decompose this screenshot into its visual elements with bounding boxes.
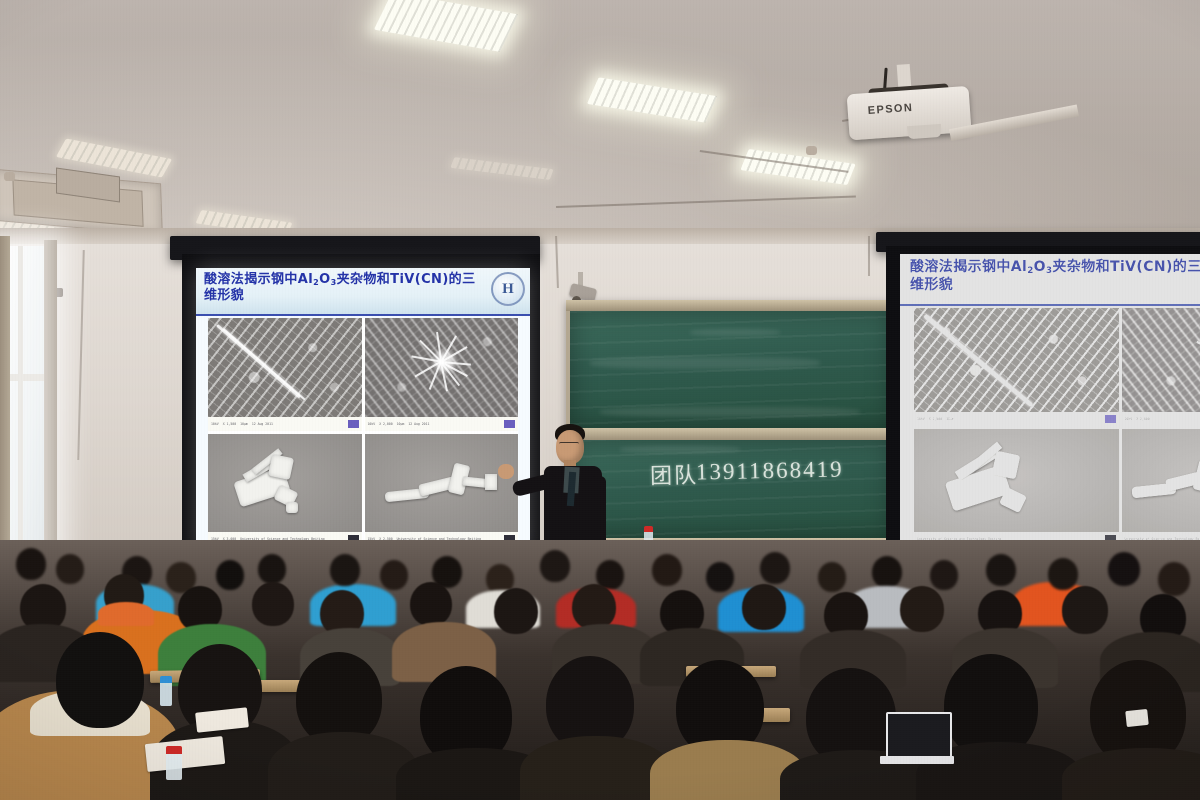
sem-image-star-r <box>1122 308 1200 412</box>
audience-head <box>1158 562 1190 596</box>
sem-panel-top-left-right-screen: 10kV X 1,500 10μm <box>914 308 1119 426</box>
sem-panel-top-right: 10kV X 2,000 10μm 12 Aug 2011 <box>365 318 519 431</box>
slide-title-bar-right: 酸溶法揭示钢中Al2O3夹杂物和TiV(CN)的三 维形貌 <box>900 254 1200 306</box>
slide-title: 酸溶法揭示钢中Al2O3夹杂物和TiV(CN)的三 维形貌 <box>204 272 486 304</box>
sprinkler-head <box>4 172 15 181</box>
audience-head <box>16 548 46 580</box>
presenter-right-arm <box>590 476 606 548</box>
sem-image-star <box>365 318 519 417</box>
sem-bar-v: 10kV <box>1125 417 1133 421</box>
slide-title-right: 酸溶法揭示钢中Al2O3夹杂物和TiV(CN)的三 维形貌 <box>910 259 1200 294</box>
audience-head <box>930 560 958 590</box>
phone-or-card <box>1125 709 1149 727</box>
right-projection-screen: 酸溶法揭示钢中Al2O3夹杂物和TiV(CN)的三 维形貌 10kV X 1,5… <box>900 254 1200 556</box>
slide-title-part2: 夹杂物和TiV(CN)的三 <box>337 272 476 287</box>
audience-head <box>410 582 452 626</box>
sem-panel-bottom-left: 15kV X 3,000 University of Science and T… <box>208 434 362 547</box>
audience <box>0 540 1200 800</box>
audience-head-foreground <box>56 632 144 728</box>
slide-title-line2: 维形貌 <box>204 288 486 304</box>
blackboard-panel-upper <box>570 311 892 428</box>
projector-lens <box>907 124 942 139</box>
audience-head <box>742 584 786 630</box>
blackboard-phone-number: 13911868419 <box>696 456 844 485</box>
sem-image-tivcn <box>365 434 519 533</box>
university-seal-logo: H <box>491 272 525 306</box>
sem-bar-scale: 10μm <box>397 422 405 426</box>
laptop-base <box>880 756 954 764</box>
audience-head <box>760 552 790 584</box>
sem-info-bar-1: 10kV X 1,500 10μm 12 Aug 2011 <box>208 417 362 431</box>
sem-panel-bottom-left-right-screen: University of Science and Technology Bei… <box>914 429 1119 547</box>
audience-head <box>330 554 360 586</box>
water-bottle-audience-2 <box>160 676 172 706</box>
slide-title-part2: 夹杂物和TiV(CN)的三 <box>1052 259 1200 275</box>
slide-title-bar: 酸溶法揭示钢中Al2O3夹杂物和TiV(CN)的三 维形貌 H <box>196 268 530 316</box>
sprinkler-head-2 <box>806 146 817 155</box>
audience-scarf-orange <box>98 602 154 626</box>
sem-bar-scale: 10μm <box>946 417 954 421</box>
audience-head <box>1108 552 1140 586</box>
sem-info-bar-2: 10kV X 2,000 10μm 12 Aug 2011 <box>365 417 519 431</box>
window-curtain <box>0 236 10 556</box>
audience-head <box>540 550 570 582</box>
sem-panel-top-right-right-screen: 10kV X 2,000 <box>1122 308 1200 426</box>
sem-info-bar-r2: 10kV X 2,000 <box>1122 412 1200 426</box>
audience-head <box>1062 586 1108 634</box>
sem-bar-mag: X 1,500 <box>929 417 942 421</box>
audience-head <box>252 582 294 626</box>
water-bottle-audience-1 <box>166 746 182 780</box>
blackboard-text-cn: 团队 <box>650 458 699 491</box>
blackboard-top-rail <box>566 300 896 311</box>
slide-title-mid: O <box>1034 259 1046 275</box>
laptop-screen <box>886 712 952 760</box>
dendrite-texture <box>208 318 362 417</box>
sem-image-alumina-r <box>914 429 1119 533</box>
dendrite-texture-r <box>914 308 1119 412</box>
audience-head <box>216 560 244 590</box>
star-cluster-texture <box>365 318 519 417</box>
window-mullion-v <box>18 246 23 562</box>
sem-bar-scale: 10μm <box>240 422 248 426</box>
sem-micrograph-grid: 10kV X 1,500 10μm 12 Aug 2011 <box>208 318 518 546</box>
audience-head <box>494 588 538 634</box>
lecture-hall-photo: EPSON 团队 13911868419 <box>0 0 1200 800</box>
slide-title-part1: 酸溶法揭示钢中Al <box>204 272 313 287</box>
left-projection-screen: 酸溶法揭示钢中Al2O3夹杂物和TiV(CN)的三 维形貌 H <box>196 268 530 554</box>
sem-image-tivcn-r <box>1122 429 1200 533</box>
sem-info-bar-r1: 10kV X 1,500 10μm <box>914 412 1119 426</box>
sem-bar-v: 10kV <box>368 422 376 426</box>
sem-panel-top-left: 10kV X 1,500 10μm 12 Aug 2011 <box>208 318 362 431</box>
audience-head <box>818 562 846 592</box>
audience-head <box>380 560 408 590</box>
sem-bar-mag: X 2,000 <box>379 422 392 426</box>
sem-bar-v: 10kV <box>917 417 925 421</box>
sem-bar-mag: X 2,000 <box>1136 417 1149 421</box>
sem-bar-date: 12 Aug 2011 <box>408 422 429 426</box>
audience-head <box>872 556 902 588</box>
sem-bar-swatch <box>348 420 359 428</box>
window-frame <box>44 240 57 570</box>
slide-left: 酸溶法揭示钢中Al2O3夹杂物和TiV(CN)的三 维形貌 H <box>196 268 530 554</box>
sem-panel-bottom-right-right-screen: University of Science and Technology Bei… <box>1122 429 1200 547</box>
sem-bar-date: 12 Aug 2011 <box>252 422 273 426</box>
sem-bar-v: 10kV <box>211 422 219 426</box>
logo-glyph: H <box>502 281 514 298</box>
slide-title-line2-right: 维形貌 <box>910 277 1200 294</box>
audience-head <box>56 554 84 584</box>
wall-crack-3 <box>868 236 870 276</box>
slide-title-part1: 酸溶法揭示钢中Al <box>910 259 1027 275</box>
star-cluster-texture-r <box>1122 308 1200 412</box>
sem-micrograph-grid-right: 10kV X 1,500 10μm <box>914 308 1200 546</box>
sem-panel-bottom-right: 15kV X 2,500 University of Science and T… <box>365 434 519 547</box>
presenter-glasses <box>559 442 579 448</box>
slide-right: 酸溶法揭示钢中Al2O3夹杂物和TiV(CN)的三 维形貌 10kV X 1,5… <box>900 254 1200 556</box>
audience-head <box>706 562 734 592</box>
flat-substrate-texture-r <box>914 429 1119 533</box>
sem-bar-swatch <box>1105 415 1116 423</box>
audience-head <box>1048 558 1078 590</box>
audience-head <box>986 554 1016 586</box>
audience-head <box>258 554 286 584</box>
ceiling-projector: EPSON <box>845 52 1091 168</box>
sem-image-dendrite <box>208 318 362 417</box>
presenter-pointing-hand <box>498 464 514 479</box>
audience-head <box>900 586 944 632</box>
sem-image-dendrite-r <box>914 308 1119 412</box>
slide-title-mid: O <box>319 272 330 287</box>
audience-head <box>652 554 682 586</box>
sem-image-alumina <box>208 434 362 533</box>
sem-bar-mag: X 1,500 <box>223 422 236 426</box>
